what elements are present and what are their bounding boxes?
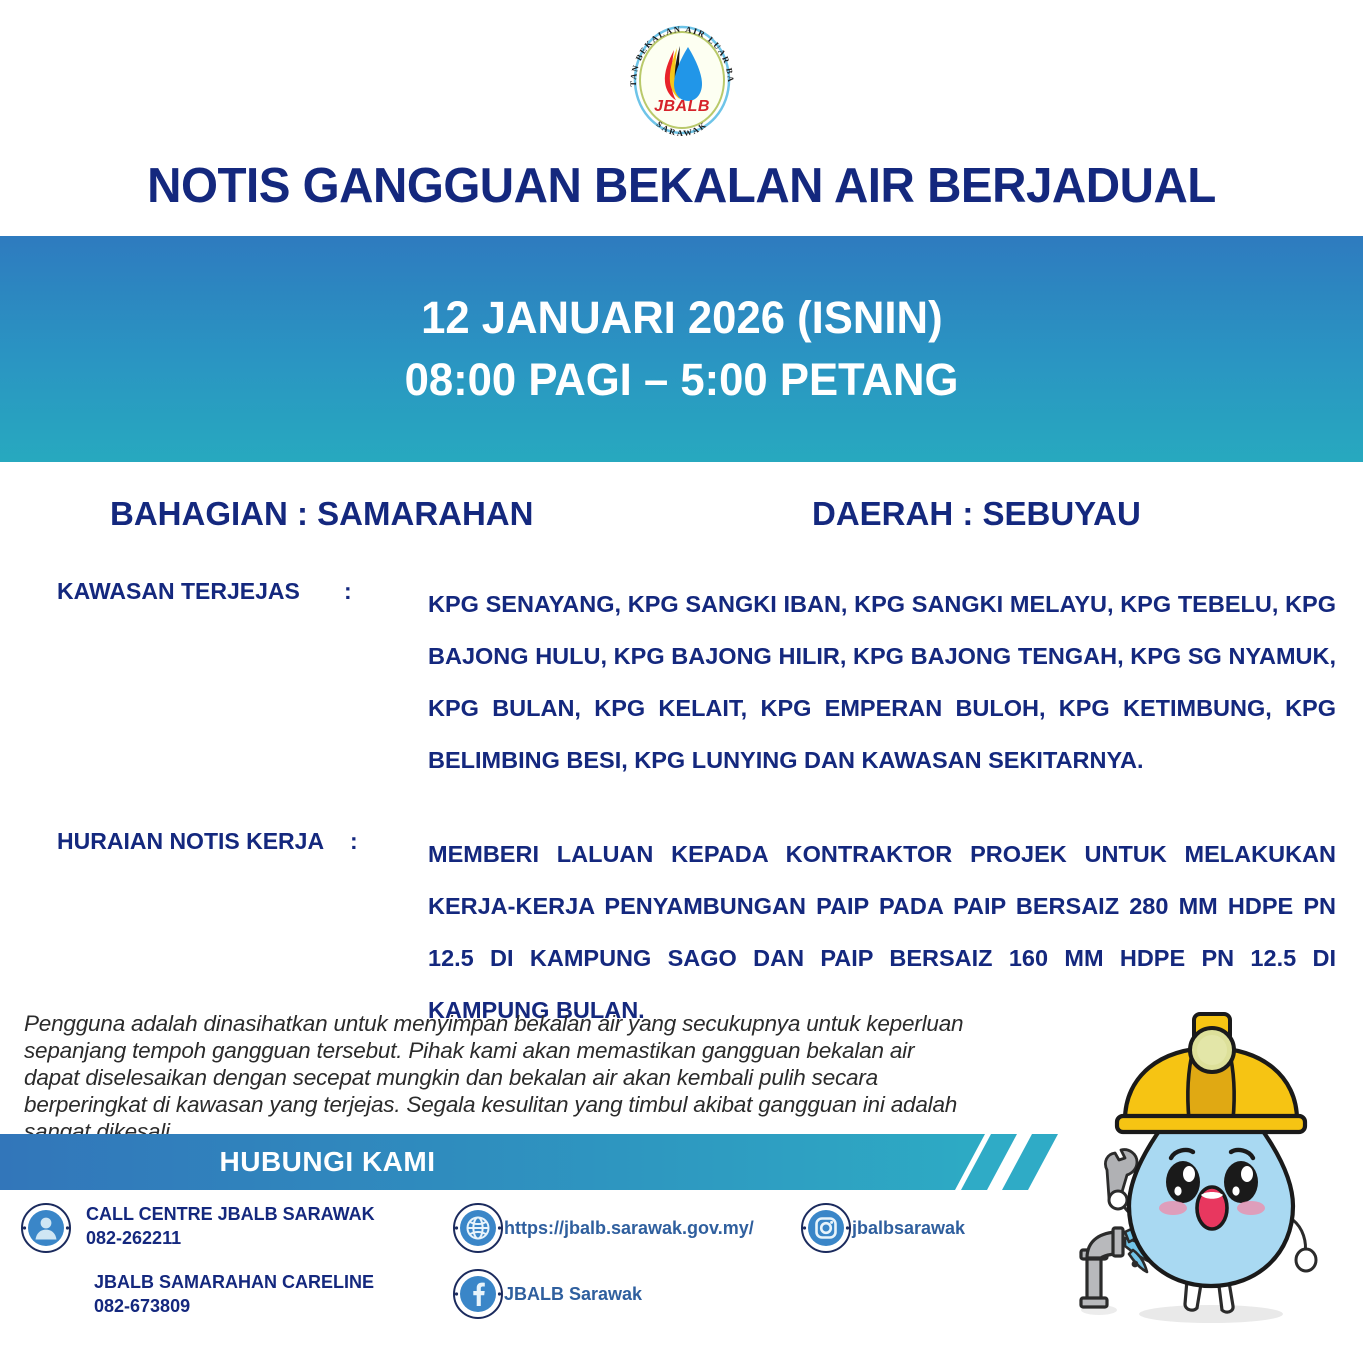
work-description-colon: : (350, 828, 358, 855)
affected-areas-text: KPG SENAYANG, KPG SANGKI IBAN, KPG SANGK… (428, 578, 1336, 786)
website-url[interactable]: https://jbalb.sarawak.gov.my/ (504, 1202, 754, 1254)
person-icon (20, 1202, 72, 1254)
location-row: BAHAGIAN : SAMARAHAN DAERAH : SEBUYAU (0, 495, 1363, 539)
careline-number: 082-673809 (94, 1294, 374, 1318)
instagram-handle[interactable]: jbalbsarawak (852, 1202, 965, 1254)
affected-areas-label: KAWASAN TERJEJAS (57, 578, 300, 605)
notice-time: 08:00 PAGI – 5:00 PETANG (405, 354, 959, 406)
contact-instagram[interactable]: jbalbsarawak (800, 1202, 965, 1254)
contact-call-centre[interactable]: CALL CENTRE JBALB SARAWAK 082-262211 (20, 1202, 375, 1254)
instagram-icon (800, 1202, 852, 1254)
division-label: BAHAGIAN : SAMARAHAN (110, 495, 533, 533)
notice-date: 12 JANUARI 2026 (ISNIN) (421, 292, 943, 344)
call-centre-number: 082-262211 (86, 1226, 375, 1250)
call-centre-name: CALL CENTRE JBALB SARAWAK (86, 1202, 375, 1226)
page-title: NOTIS GANGGUAN BEKALAN AIR BERJADUAL (20, 158, 1342, 214)
work-description-label: HURAIAN NOTIS KERJA (57, 828, 324, 855)
contact-banner-body: HUBUNGI KAMI (0, 1134, 985, 1190)
contact-facebook[interactable]: JBALB Sarawak (452, 1268, 642, 1320)
svg-text:JBALB: JBALB (654, 98, 710, 115)
advisory-text: Pengguna adalah dinasihatkan untuk menyi… (24, 1010, 974, 1145)
facebook-icon (452, 1268, 504, 1320)
logo-container: JABATAN BEKALAN AIR LUAR BANDAR SARAWAK … (0, 14, 1363, 146)
contact-careline[interactable]: JBALB SAMARAHAN CARELINE 082-673809 (94, 1270, 374, 1318)
careline-text: JBALB SAMARAHAN CARELINE 082-673809 (94, 1270, 374, 1318)
jbalb-logo: JABATAN BEKALAN AIR LUAR BANDAR SARAWAK … (618, 14, 746, 146)
date-time-banner: 12 JANUARI 2026 (ISNIN) 08:00 PAGI – 5:0… (0, 236, 1363, 462)
contact-banner-label: HUBUNGI KAMI (220, 1146, 436, 1178)
facebook-handle[interactable]: JBALB Sarawak (504, 1268, 642, 1320)
water-droplet-mascot (1061, 992, 1361, 1340)
call-centre-text: CALL CENTRE JBALB SARAWAK 082-262211 (86, 1202, 375, 1250)
globe-icon (452, 1202, 504, 1254)
district-label: DAERAH : SEBUYAU (812, 495, 1141, 533)
affected-areas-colon: : (344, 578, 352, 605)
contact-website[interactable]: https://jbalb.sarawak.gov.my/ (452, 1202, 754, 1254)
careline-name: JBALB SAMARAHAN CARELINE (94, 1270, 374, 1294)
